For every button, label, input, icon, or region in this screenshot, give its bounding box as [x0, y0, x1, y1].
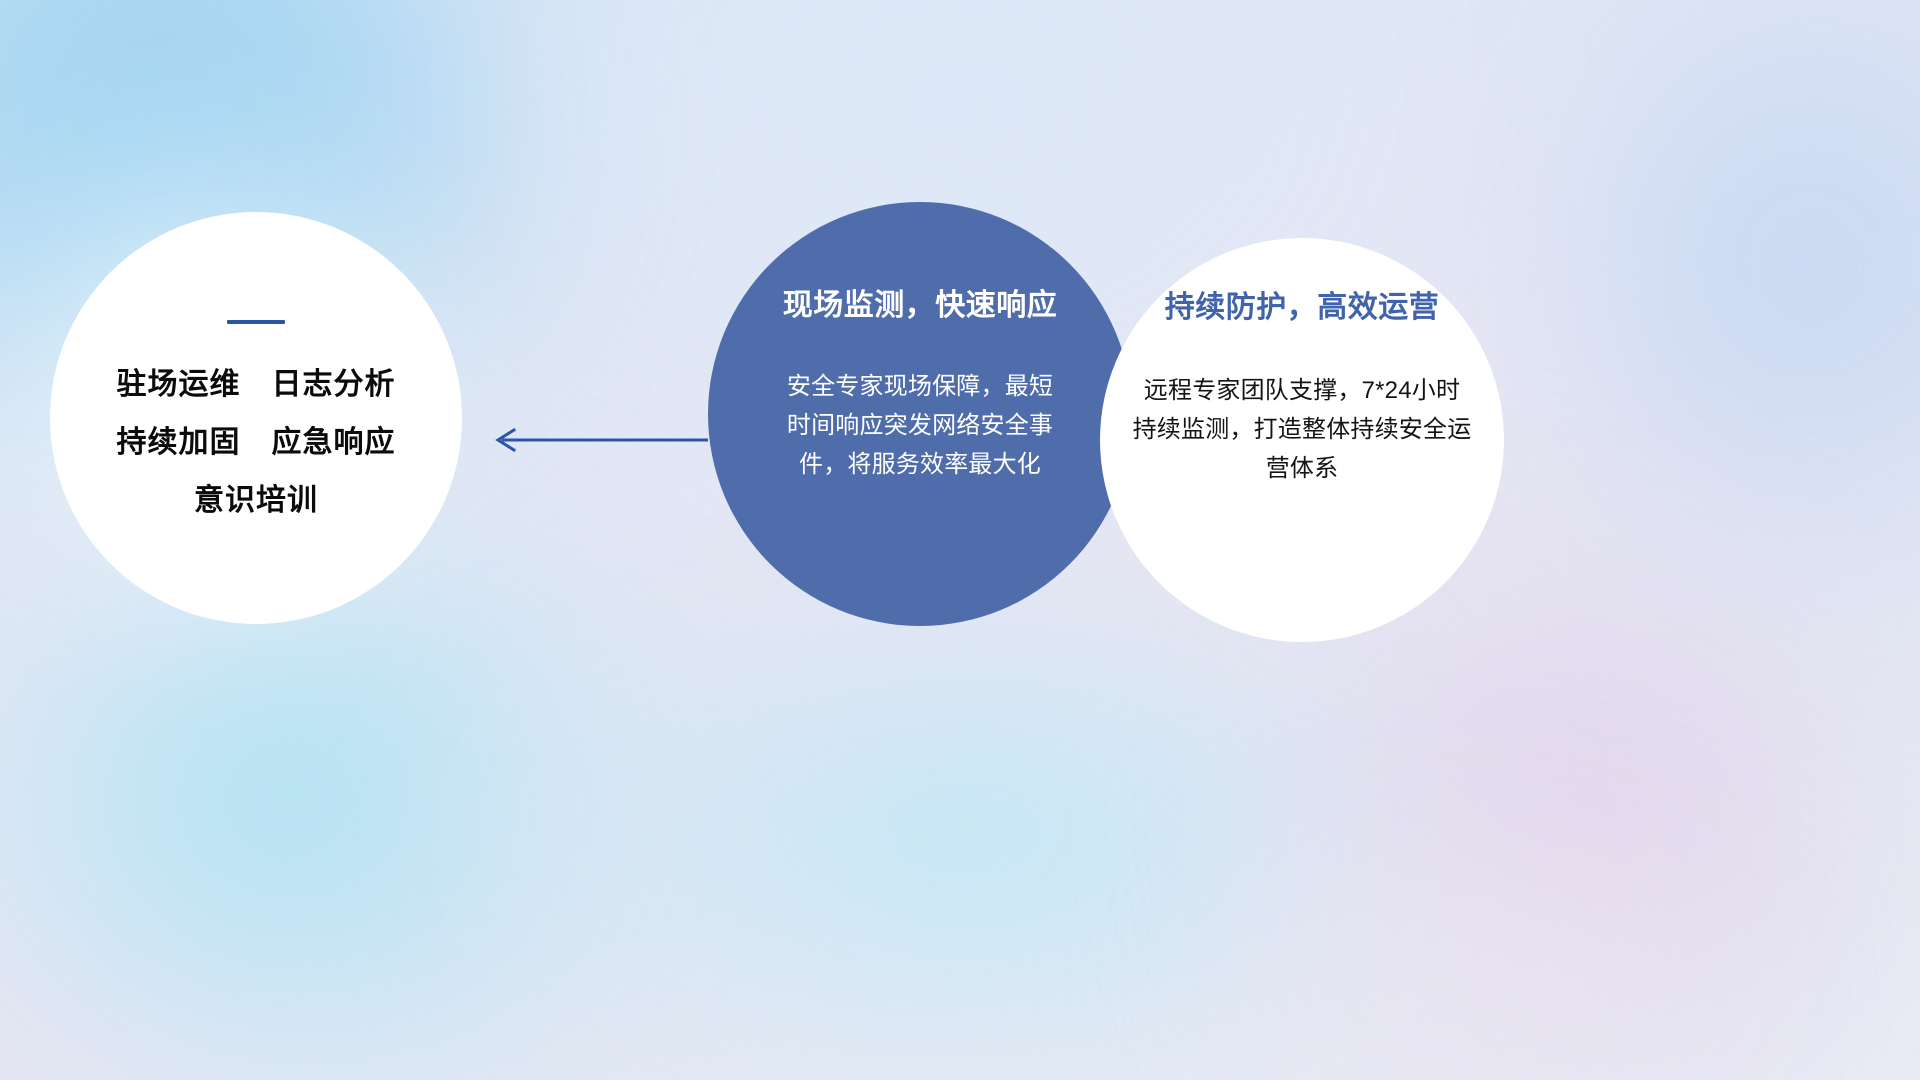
accent-dash-icon [227, 320, 285, 324]
right-circle-title: 持续防护，高效运营 [1165, 290, 1440, 326]
left-circle-line-3: 意识培训 [194, 486, 318, 516]
middle-circle-content: 现场监测，快速响应 安全专家现场保障，最短时间响应突发网络安全事件，将服务效率最… [708, 202, 1132, 626]
left-circle-content: 驻场运维 日志分析 持续加固 应急响应 意识培训 [50, 212, 462, 624]
middle-circle-title: 现场监测，快速响应 [783, 288, 1058, 324]
right-circle-content: 持续防护，高效运营 远程专家团队支撑，7*24小时持续监测，打造整体持续安全运营… [1100, 238, 1504, 642]
flow-arrow-left-icon [488, 418, 708, 462]
left-circle-line-2: 持续加固 应急响应 [117, 428, 396, 458]
slide-canvas: 驻场运维 日志分析 持续加固 应急响应 意识培训 现场监测，快速响应 安全专家现… [0, 0, 1920, 1080]
middle-circle-body: 安全专家现场保障，最短时间响应突发网络安全事件，将服务效率最大化 [786, 368, 1054, 485]
right-circle-body: 远程专家团队支撑，7*24小时持续监测，打造整体持续安全运营体系 [1132, 372, 1472, 489]
left-circle-line-1: 驻场运维 日志分析 [117, 370, 396, 400]
